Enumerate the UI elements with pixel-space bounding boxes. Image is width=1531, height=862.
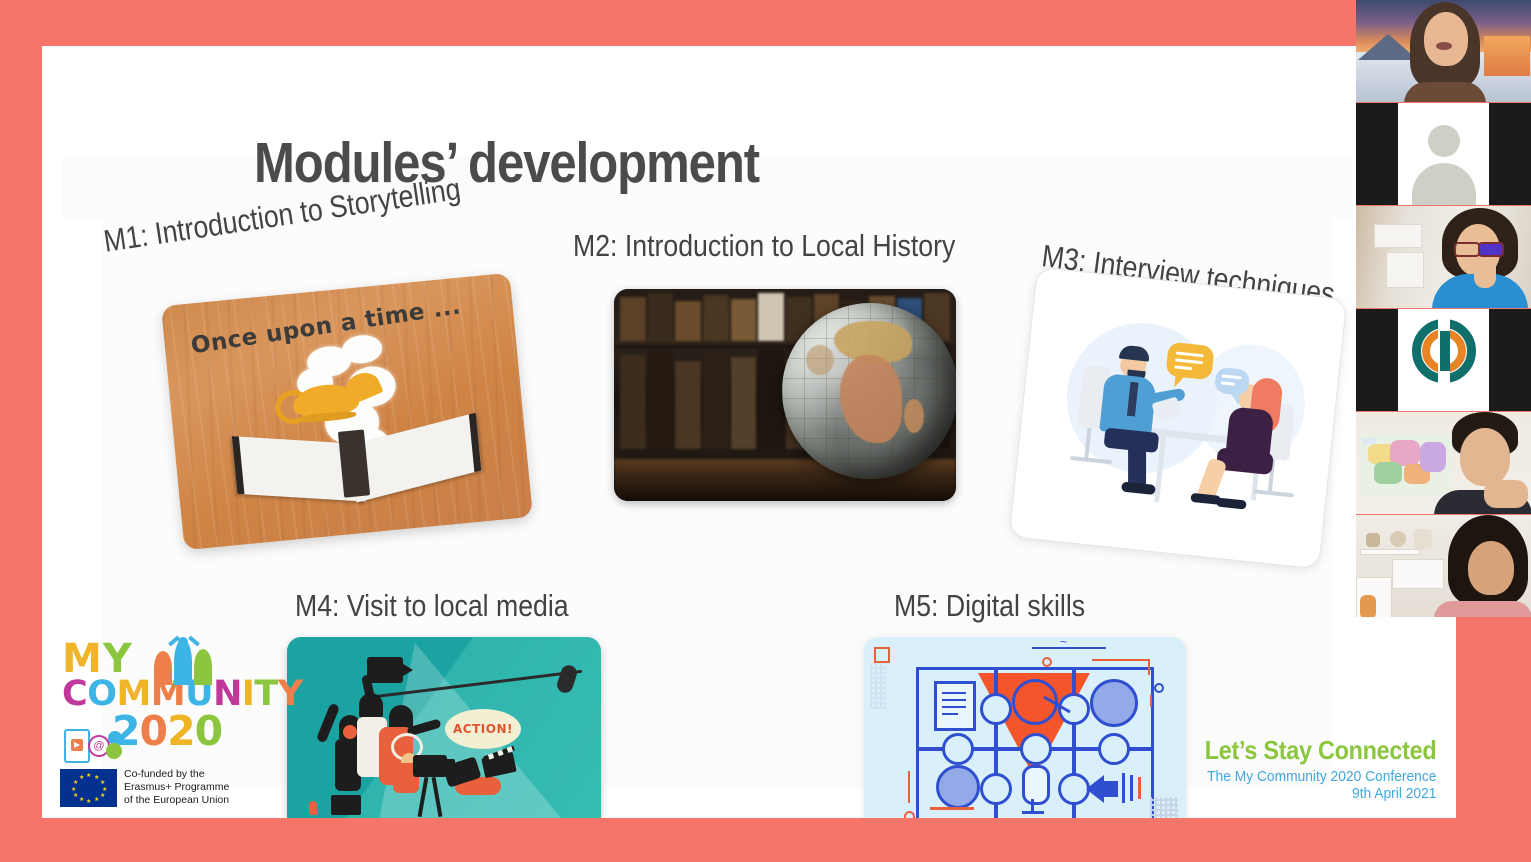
participant-face: [1424, 12, 1468, 66]
event-title: Let’s Stay Connected: [1204, 735, 1436, 766]
drum-icon: [1090, 679, 1138, 727]
organisation-logo-bar: [1440, 331, 1450, 371]
film-camera: [413, 755, 447, 777]
book-page-right: [351, 413, 481, 503]
participant-shoulders: [1434, 601, 1531, 617]
eu-funding-text: Co-funded by the Erasmus+ Programme of t…: [124, 768, 229, 807]
figure-orange: [154, 651, 172, 685]
european-union-flag: ★ ★ ★ ★ ★ ★ ★ ★ ★ ★ ★ ★: [60, 769, 117, 807]
event-subtitle: The My Community 2020 Conference: [1199, 768, 1436, 785]
puzzle-knob: [1020, 733, 1052, 765]
speech-bubble-blue: [1214, 367, 1251, 396]
video-tile-participant-1[interactable]: [1356, 0, 1531, 102]
sound-wave: [1138, 777, 1141, 799]
decor-line: [1150, 695, 1152, 707]
eu-funding-line2: Erasmus+ Programme: [124, 781, 229, 794]
crew-member-face: [343, 725, 357, 739]
globe-landmass: [904, 399, 924, 433]
decor-line: [1148, 659, 1150, 675]
decor-line: [908, 771, 910, 803]
decor-line: [1092, 659, 1150, 661]
equipment-case: [331, 795, 361, 815]
video-tile-participant-6[interactable]: [1356, 515, 1531, 617]
action-speech-bubble: ACTION!: [445, 709, 521, 749]
participant-mouth: [1436, 42, 1452, 50]
decor-square: [874, 647, 890, 663]
floor-light: [309, 801, 317, 815]
eu-funding-line3: of the European Union: [124, 794, 229, 807]
module-title-m5-text: M5: Digital skills: [894, 588, 1085, 624]
puzzle-knob: [980, 773, 1012, 805]
participant-face: [1468, 541, 1514, 595]
action-label: ACTION!: [445, 709, 521, 749]
puzzle-knob: [942, 733, 974, 765]
module-title-m5: M5: Digital skills: [894, 588, 1116, 624]
participant-hand: [1484, 480, 1528, 508]
eu-funding-line1: Co-funded by the: [124, 768, 229, 781]
my-community-2020-logo: MY COMMUNITY 2020 @: [62, 641, 227, 752]
decor-dot: [1042, 657, 1052, 667]
module-image-m5: ~ +: [864, 637, 1186, 818]
sound-wave: [1130, 775, 1133, 801]
people-figures-icon: [150, 637, 222, 689]
eu-funding-block: ★ ★ ★ ★ ★ ★ ★ ★ ★ ★ ★ ★ Co-funded by the…: [60, 768, 229, 807]
module-image-m1: Once upon a time ...: [161, 273, 533, 550]
module-title-m4-text: M4: Visit to local media: [295, 588, 569, 624]
wall-poster: [1374, 224, 1422, 248]
module-title-m4: M4: Visit to local media: [295, 588, 613, 624]
decor-dot: [1154, 683, 1164, 693]
europe-map-poster: [1360, 434, 1452, 496]
participant-face: [1460, 428, 1510, 486]
speaker-body: [1104, 781, 1118, 797]
decor-dot-grid: [1150, 797, 1178, 818]
glasses-left-lens: [1454, 242, 1480, 257]
spotlight-cone: [395, 659, 413, 681]
microphone-icon: [1022, 765, 1050, 805]
participant-shoulders: [1404, 82, 1486, 102]
wall-shelf: [1392, 559, 1444, 589]
event-date: 9th April 2021: [1199, 785, 1436, 802]
participant-hand: [1474, 258, 1496, 288]
video-tile-participant-5[interactable]: [1356, 412, 1531, 514]
module-image-m2: [614, 289, 956, 501]
chair-base: [1254, 489, 1294, 497]
avatar-head-icon: [1428, 125, 1460, 157]
figure-arm: [188, 636, 200, 647]
wall-poster: [1386, 252, 1424, 288]
mountain: [1358, 34, 1418, 60]
speaker-icon: [1086, 775, 1104, 803]
photo-circle-icon: [936, 765, 980, 809]
speech-bubble-orange: [1165, 342, 1214, 381]
shelf-ornament: [1366, 533, 1380, 547]
decor-dot: [904, 811, 915, 818]
speech-dot-icon: [106, 743, 122, 759]
module-title-m2-text: M2: Introduction to Local History: [573, 228, 955, 264]
shelf-ornament: [1390, 531, 1406, 547]
decor-tilde: ~: [1060, 639, 1070, 645]
event-branding: Let’s Stay Connected The My Community 20…: [1179, 735, 1436, 802]
module-title-m2: M2: Introduction to Local History: [573, 228, 1018, 264]
book-spine: [338, 429, 370, 497]
globe-landmass: [806, 345, 834, 375]
puzzle-knob: [980, 693, 1012, 725]
interviewee-shoe: [1216, 498, 1247, 510]
antique-globe-icon: [782, 303, 956, 479]
module-image-m4: ACTION!: [287, 637, 601, 818]
glasses-right-lens: [1478, 242, 1504, 257]
video-tile-participant-4[interactable]: [1356, 309, 1531, 411]
figure-green: [194, 649, 212, 685]
crew-member-arm: [316, 703, 340, 744]
video-tile-participant-2[interactable]: [1356, 103, 1531, 205]
decor-line: [1032, 647, 1106, 649]
wall-shelf: [1360, 549, 1420, 555]
phone-icon: [64, 729, 90, 763]
puzzle-knob: [1098, 733, 1130, 765]
video-tile-participant-3[interactable]: [1356, 206, 1531, 308]
shelf-ornament: [1360, 595, 1376, 617]
shelf-ornament: [1414, 529, 1432, 549]
presentation-slide: Modules’ development M1: Introduction to…: [42, 46, 1456, 818]
interviewer-shoe: [1121, 482, 1156, 495]
interviewer-leg: [1128, 439, 1146, 487]
document-icon: [934, 681, 976, 731]
slider-track: [930, 807, 974, 810]
sunset-trees: [1484, 36, 1530, 76]
decor-dot-grid: [870, 663, 886, 709]
video-participant-panel: [1356, 0, 1531, 613]
genie-lamp-icon: [272, 366, 384, 428]
sound-wave: [1122, 773, 1125, 803]
module-image-m3: [1009, 266, 1348, 569]
microphone-base: [1022, 811, 1044, 814]
